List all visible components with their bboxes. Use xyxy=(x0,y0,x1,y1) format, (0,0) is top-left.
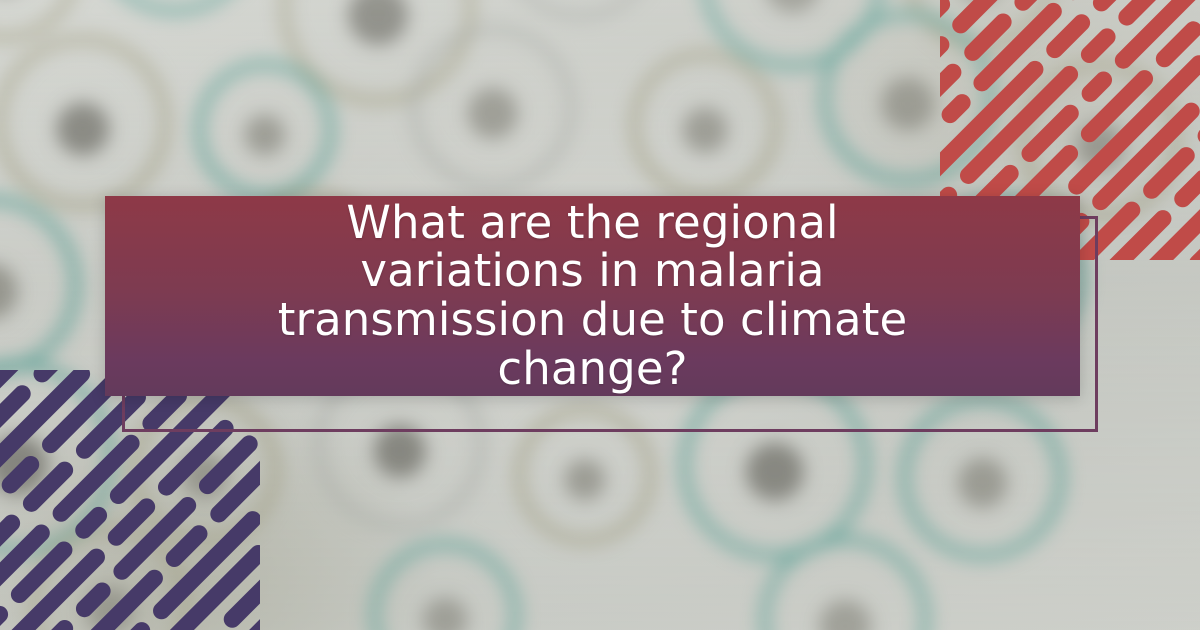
question-card: What are the regional variations in mala… xyxy=(105,196,1080,396)
question-card-banner: What are the regional variations in mala… xyxy=(0,0,1200,630)
question-title: What are the regional variations in mala… xyxy=(263,199,923,393)
